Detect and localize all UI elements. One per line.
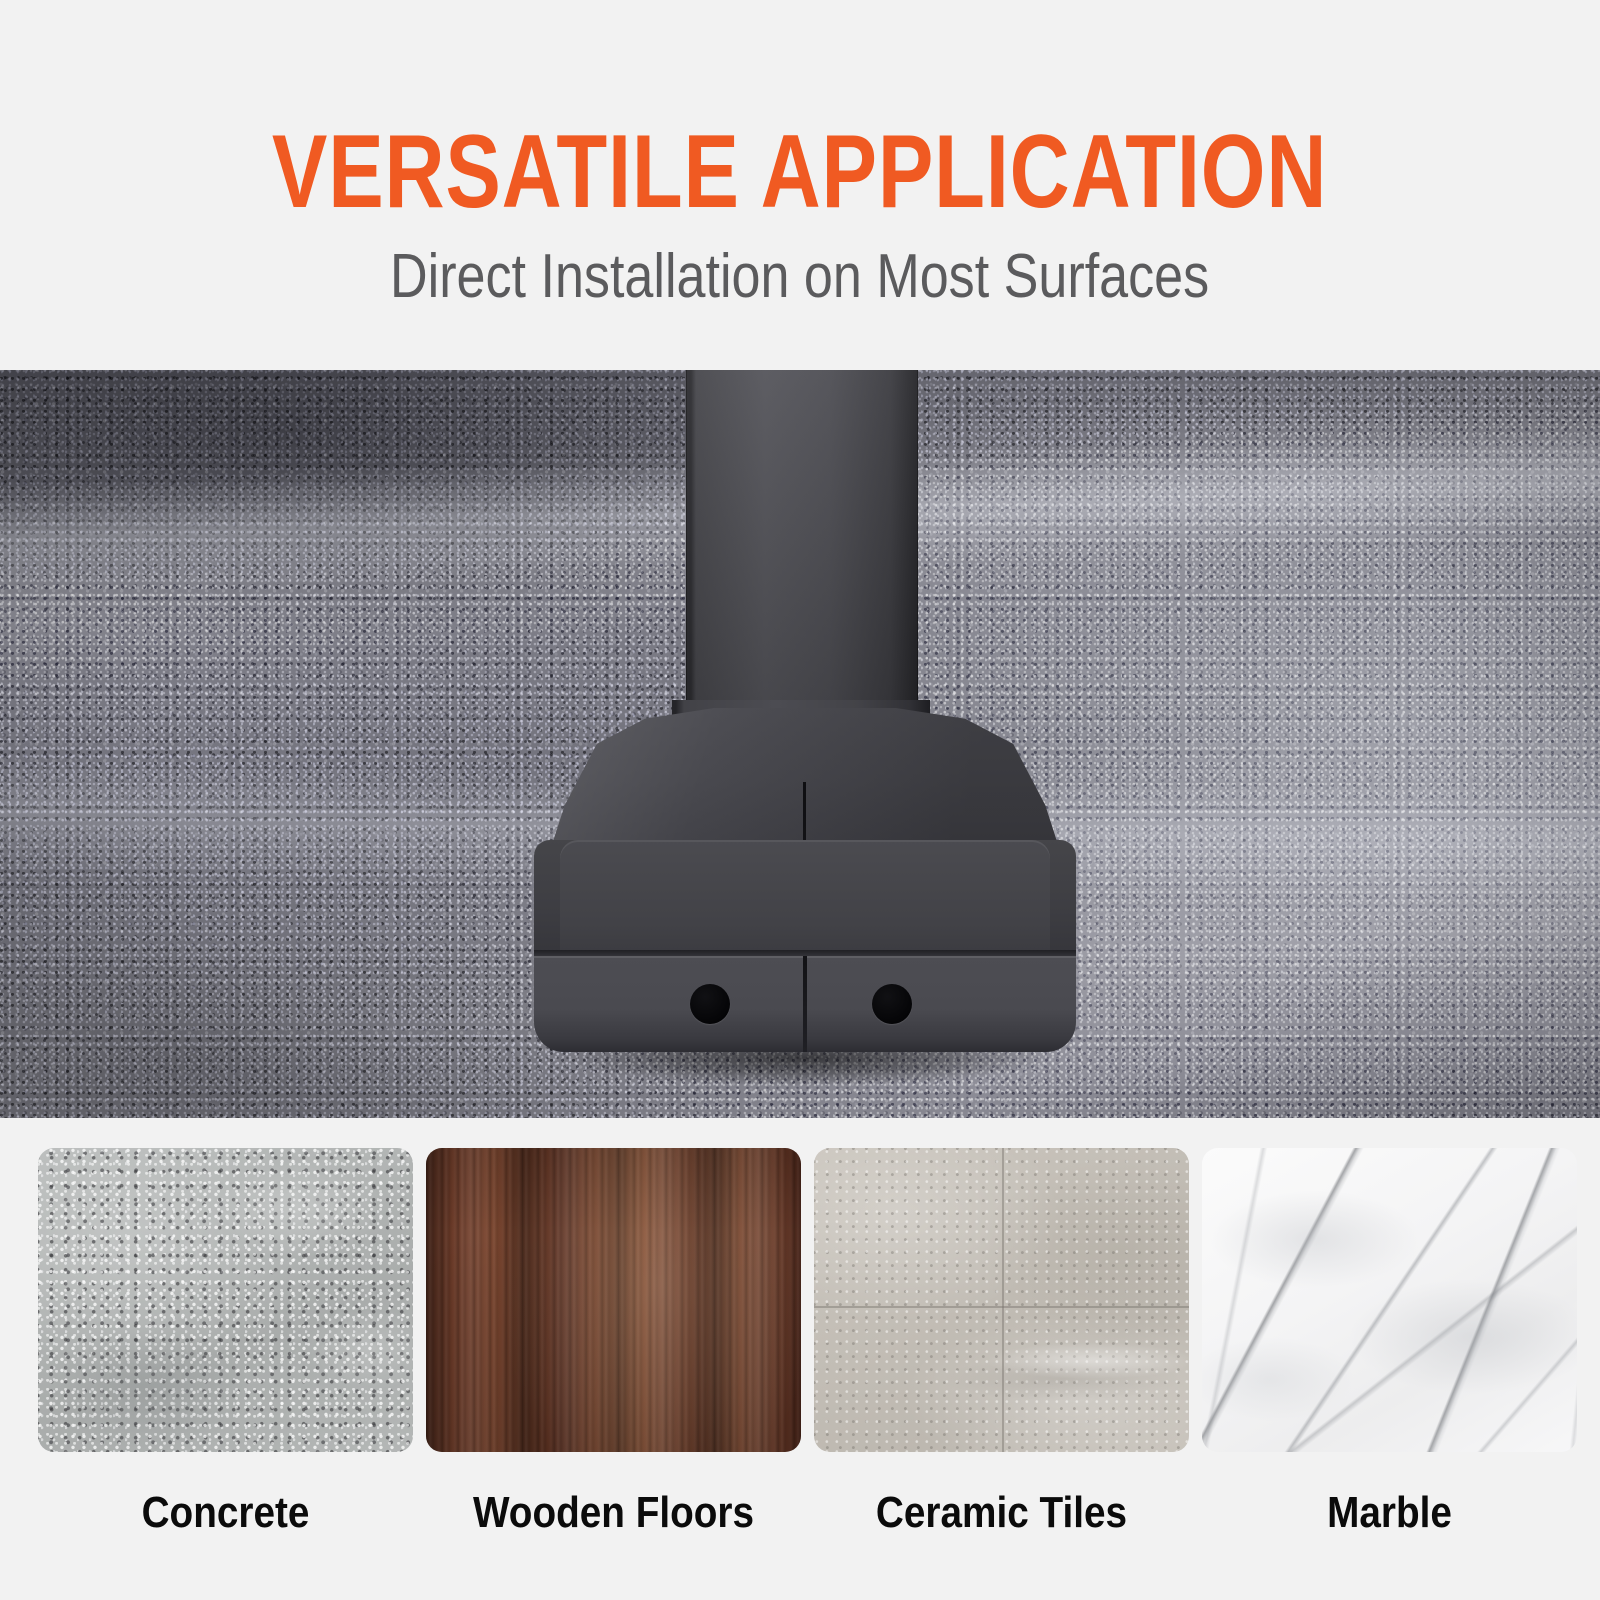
concrete-mottling <box>38 1148 413 1452</box>
product-feature-page: VERSATILE APPLICATION Direct Installatio… <box>0 0 1600 1600</box>
bolt-hole-right <box>872 984 912 1024</box>
grout-line-horizontal <box>814 1306 1189 1308</box>
wood-sheen-overlay <box>426 1148 801 1452</box>
surface-swatch-section: Concrete Wooden Floors Ceramic Tiles <box>0 1118 1600 1600</box>
grout-line-vertical <box>1002 1148 1004 1452</box>
swatch-label-concrete: Concrete <box>61 1488 391 1538</box>
swatch-item-concrete: Concrete <box>38 1148 413 1538</box>
post-base-assembly <box>0 370 1600 1118</box>
swatch-item-wooden-floors: Wooden Floors <box>426 1148 801 1538</box>
swatch-thumbnail-marble <box>1202 1148 1577 1452</box>
hero-product-photo <box>0 370 1600 1118</box>
base-plate-seam-skirt <box>803 956 807 1052</box>
swatch-label-ceramic-tiles: Ceramic Tiles <box>837 1488 1167 1538</box>
surface-swatch-row: Concrete Wooden Floors Ceramic Tiles <box>38 1148 1577 1538</box>
swatch-item-ceramic-tiles: Ceramic Tiles <box>814 1148 1189 1538</box>
swatch-thumbnail-concrete <box>38 1148 413 1452</box>
swatch-item-marble: Marble <box>1202 1148 1577 1538</box>
page-title: VERSATILE APPLICATION <box>272 120 1327 224</box>
swatch-label-marble: Marble <box>1225 1488 1555 1538</box>
swatch-label-wooden-floors: Wooden Floors <box>449 1488 779 1538</box>
page-subtitle: Direct Installation on Most Surfaces <box>390 246 1209 308</box>
swatch-thumbnail-ceramic-tiles <box>814 1148 1189 1452</box>
bolt-hole-left <box>690 984 730 1024</box>
base-plate-chamfer-inner <box>560 840 1050 960</box>
swatch-thumbnail-wooden-floors <box>426 1148 801 1452</box>
header-band: VERSATILE APPLICATION Direct Installatio… <box>0 0 1600 370</box>
marble-cloud-shading <box>1202 1148 1577 1452</box>
